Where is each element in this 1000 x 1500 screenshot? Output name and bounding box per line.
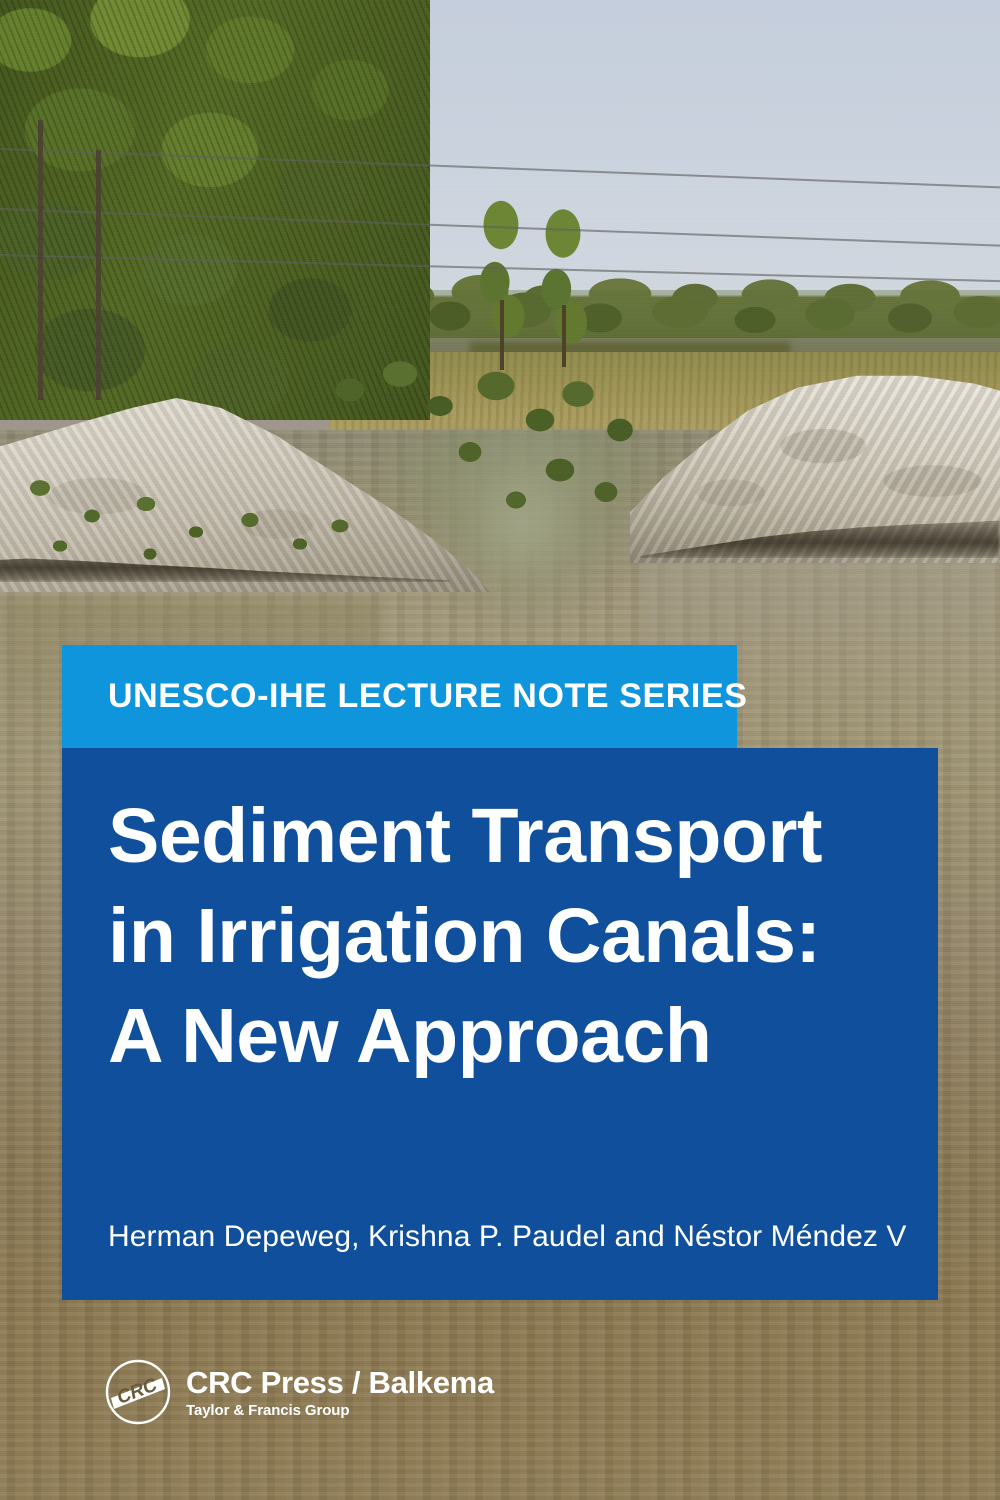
author-list: Herman Depeweg, Krishna P. Paudel and Né… <box>108 1220 907 1254</box>
publisher-group: Taylor & Francis Group <box>186 1403 494 1418</box>
publisher-name: CRC Press / Balkema <box>186 1367 494 1398</box>
publisher-text: CRC Press / Balkema Taylor & Francis Gro… <box>186 1367 494 1418</box>
publisher-logo: CRC CRC Press / Balkema Taylor & Francis… <box>104 1358 494 1426</box>
utility-pole <box>96 150 101 400</box>
title-line-2: in Irrigation Canals: <box>108 886 928 986</box>
tree-trunk <box>562 305 566 367</box>
crc-circle-emblem-icon: CRC <box>104 1358 172 1426</box>
book-cover: UNESCO-IHE LECTURE NOTE SERIES Sediment … <box>0 0 1000 1500</box>
sand-vegetation-tufts <box>0 450 380 580</box>
book-title: Sediment Transport in Irrigation Canals:… <box>108 786 928 1086</box>
series-band: UNESCO-IHE LECTURE NOTE SERIES <box>62 645 737 748</box>
svg-text:CRC: CRC <box>114 1374 160 1408</box>
series-title: UNESCO-IHE LECTURE NOTE SERIES <box>108 677 748 716</box>
title-block: Sediment Transport in Irrigation Canals:… <box>62 748 938 1300</box>
title-line-3: A New Approach <box>108 986 928 1086</box>
title-line-1: Sediment Transport <box>108 786 928 886</box>
utility-pole <box>38 120 43 400</box>
